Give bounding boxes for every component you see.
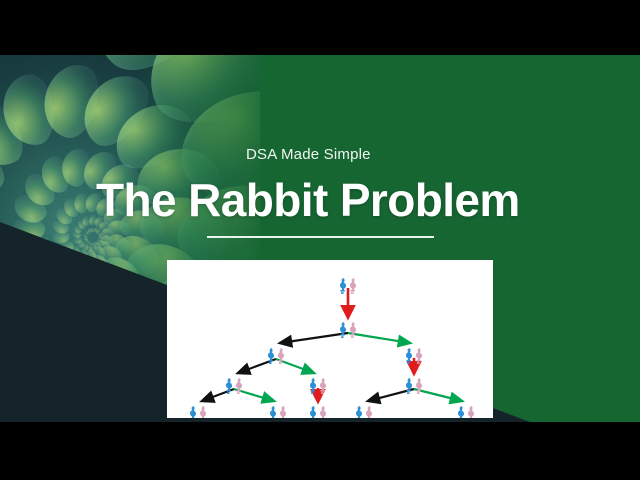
slide-title: The Rabbit Problem	[96, 173, 520, 227]
slide-stage: DSA Made Simple The Rabbit Problem	[0, 55, 640, 422]
rabbit-pair-icon	[458, 406, 474, 418]
tree-nodes	[190, 278, 474, 418]
rabbit-pair-icon	[340, 322, 356, 338]
letterbox-bar-top	[0, 0, 640, 55]
rabbit-pair-icon	[226, 378, 242, 394]
rabbit-pair-icon	[406, 378, 422, 394]
diagram-panel	[167, 260, 493, 418]
title-divider-rule	[207, 236, 434, 238]
rabbit-pair-icon	[190, 406, 206, 418]
tree-edge-black-left	[280, 333, 348, 343]
tree-edge-green-right	[414, 389, 462, 401]
video-slide: DSA Made Simple The Rabbit Problem	[0, 0, 640, 480]
letterbox-bar-bottom	[0, 422, 640, 480]
rabbit-pair-icon	[270, 406, 286, 418]
rabbit-pair-icon	[356, 406, 372, 418]
rabbit-pair-icon	[268, 348, 284, 364]
rabbit-pair-icon	[310, 406, 326, 418]
tree-edge-green-right	[348, 333, 410, 343]
rabbit-tree-svg	[167, 260, 493, 418]
slide-subtitle: DSA Made Simple	[246, 146, 371, 163]
